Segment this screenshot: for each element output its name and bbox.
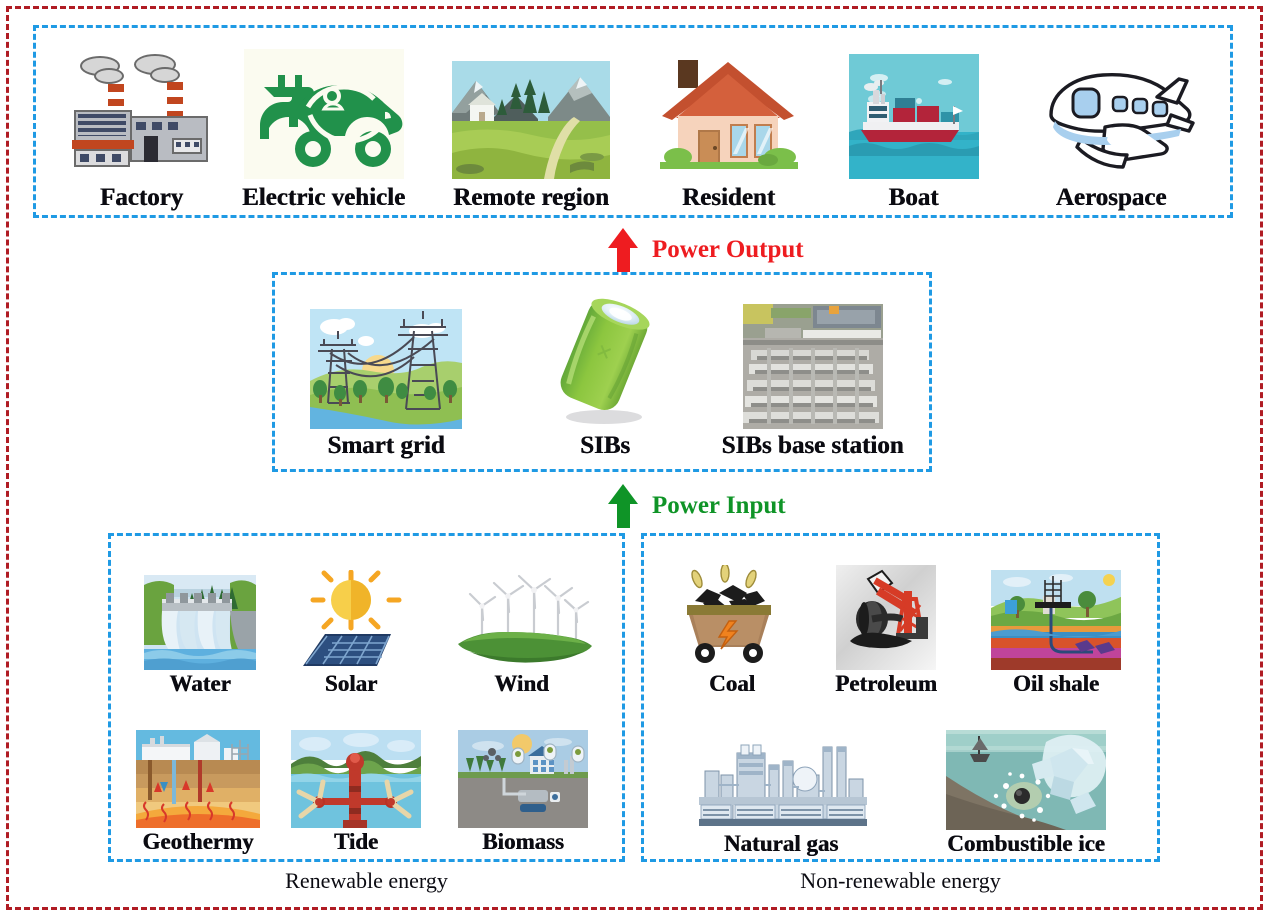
gas-plant-icon: [699, 735, 864, 830]
renewable-label: Water: [169, 672, 230, 696]
application-label: Electric vehicle: [242, 185, 405, 211]
nonrenewable-energy-panel: Coal: [641, 533, 1160, 862]
power-output-flow: Power Output: [608, 228, 804, 272]
factory-icon: [72, 54, 212, 179]
nonrenewable-group-label: Non-renewable energy: [641, 868, 1160, 894]
application-item-aerospace[interactable]: Aerospace: [1001, 36, 1221, 211]
renewable-label: Wind: [494, 672, 549, 696]
storage-item-sibs-base-station[interactable]: SIBs base station: [705, 287, 920, 459]
nonrenewable-item-coal[interactable]: Coal: [656, 546, 808, 696]
renewable-label: Biomass: [482, 830, 564, 854]
application-item-remote-region[interactable]: Remote region: [426, 36, 636, 211]
renewable-label: Geothermy: [142, 830, 253, 854]
airplane-icon: [1031, 59, 1191, 179]
cargo-ship-icon: [849, 54, 979, 179]
renewable-item-water[interactable]: Water: [125, 546, 275, 696]
renewable-label: Tide: [334, 830, 378, 854]
application-label: Boat: [889, 185, 939, 211]
renewable-item-tide[interactable]: Tide: [281, 704, 431, 854]
nonrenewable-label: Oil shale: [1013, 672, 1099, 696]
power-input-label: Power Input: [652, 492, 786, 520]
storage-label: Smart grid: [327, 433, 444, 459]
oil-pumpjack-icon: [836, 565, 936, 670]
battery-station-icon: [743, 304, 883, 429]
application-label: Factory: [100, 185, 183, 211]
renewable-group-label: Renewable energy: [108, 868, 625, 894]
nonrenewable-item-oil-shale[interactable]: Oil shale: [966, 546, 1146, 696]
electric-car-svg: [244, 49, 404, 179]
application-item-boat[interactable]: Boat: [821, 36, 1006, 211]
solar-panel-icon: [295, 570, 407, 670]
nonrenewable-item-combustible-ice[interactable]: Combustible ice: [902, 698, 1150, 856]
geothermal-plant-icon: [136, 730, 260, 828]
hydro-dam-icon: [144, 575, 256, 670]
renewable-label: Solar: [325, 672, 377, 696]
renewable-item-wind[interactable]: Wind: [429, 546, 614, 696]
storage-label: SIBs base station: [722, 433, 904, 459]
battery-cell-icon: [540, 289, 670, 429]
nonrenewable-label: Natural gas: [724, 832, 838, 856]
power-grid-icon: [310, 309, 462, 429]
power-input-flow: Power Input: [608, 484, 786, 528]
application-label: Remote region: [453, 185, 609, 211]
power-input-arrow-icon: [608, 484, 638, 528]
renewable-energy-panel: Water: [108, 533, 625, 862]
tidal-turbine-icon: [291, 730, 421, 828]
renewable-item-geothermy[interactable]: Geothermy: [119, 704, 277, 854]
nonrenewable-item-natural-gas[interactable]: Natural gas: [666, 708, 896, 856]
nonrenewable-label: Coal: [709, 672, 755, 696]
oil-shale-icon: [991, 570, 1121, 670]
application-item-resident[interactable]: Resident: [631, 36, 826, 211]
house-icon: [656, 54, 801, 179]
storage-item-sibs[interactable]: SIBs: [520, 287, 690, 459]
power-output-arrow-icon: [608, 228, 638, 272]
application-label: Resident: [682, 185, 775, 211]
coal-cart-icon: [677, 565, 787, 670]
electric-car-icon: [244, 49, 404, 179]
nonrenewable-label: Petroleum: [835, 672, 937, 696]
storage-label: SIBs: [580, 433, 630, 459]
wind-turbine-icon: [452, 570, 592, 670]
application-label: Aerospace: [1056, 185, 1167, 211]
power-output-label: Power Output: [652, 236, 804, 264]
application-item-electric-vehicle[interactable]: Electric vehicle: [216, 36, 431, 211]
renewable-item-biomass[interactable]: Biomass: [433, 704, 613, 854]
application-item-factory[interactable]: Factory: [54, 36, 229, 211]
remote-region-icon: [452, 61, 610, 179]
biomass-plant-icon: [458, 730, 588, 828]
applications-panel: Factory: [33, 25, 1233, 218]
nonrenewable-item-petroleum[interactable]: Petroleum: [806, 546, 966, 696]
renewable-item-solar[interactable]: Solar: [276, 546, 426, 696]
methane-hydrate-icon: [946, 730, 1106, 830]
storage-item-smart-grid[interactable]: Smart grid: [291, 287, 481, 459]
storage-panel: Smart grid: [272, 272, 932, 472]
nonrenewable-label: Combustible ice: [947, 832, 1105, 856]
